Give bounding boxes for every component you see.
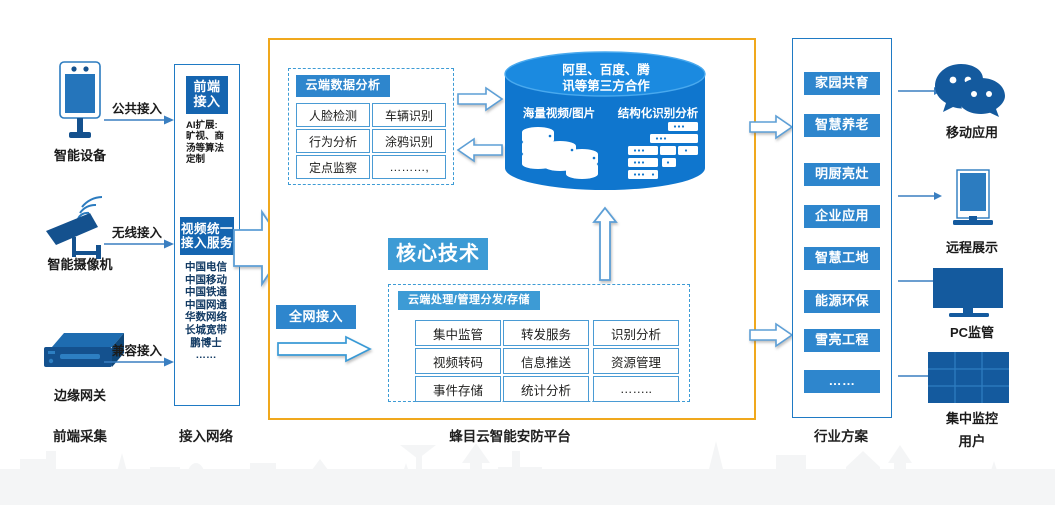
chip-frontend-access-line2: 接入 (193, 95, 220, 110)
arrow-cloud-to-analysis (456, 137, 504, 163)
arrow-analysis-to-cloud (456, 86, 504, 112)
core-tech-heading: 核心技术 (388, 238, 488, 270)
carrier-item-0: 中国电信 (176, 261, 236, 274)
core-tech-item-0[interactable]: 集中监管 (415, 320, 501, 346)
carrier-item-3: 中国网通 (176, 299, 236, 312)
cloud-analysis-title: 云端数据分析 (296, 75, 390, 97)
industry-item-4[interactable]: 智慧工地 (804, 247, 880, 270)
industry-item-7[interactable]: …… (804, 370, 880, 393)
industry-item-5[interactable]: 能源环保 (804, 290, 880, 313)
arrow-platform-to-industry-top (748, 114, 794, 140)
wechat-icon (935, 62, 1007, 116)
industry-item-2[interactable]: 明厨亮灶 (804, 163, 880, 186)
core-tech-item-5[interactable]: 资源管理 (593, 348, 679, 374)
badge-full-network-access[interactable]: 全网接入 (276, 305, 356, 329)
core-tech-item-6[interactable]: 事件存储 (415, 376, 501, 402)
cloud-title-line1: 阿里、百度、腾 (515, 62, 697, 78)
database-stack-icon (520, 124, 602, 184)
video-wall-icon (928, 352, 1012, 406)
cloud-analysis-item-4[interactable]: 定点监察 (296, 155, 370, 179)
cloud-analysis-item-1[interactable]: 车辆识别 (372, 103, 446, 127)
arrow-wireless-access (104, 238, 174, 250)
cloud-analysis-item-2[interactable]: 行为分析 (296, 129, 370, 153)
arrow-public-access (104, 114, 174, 126)
diagram-canvas: 智能设备 公共接入 智能摄像机 无线接入 边缘网关 兼 (0, 0, 1055, 505)
cloud-right-label: 结构化识别分析 (607, 105, 709, 121)
ai-extension-note: AI扩展: 旷视、商 汤等算法 定制 (186, 120, 236, 166)
industry-item-0[interactable]: 家园共育 (804, 72, 880, 95)
section-footer-frontend: 前端采集 (18, 425, 142, 445)
chip-video-access-line2: 接入服务 (181, 236, 233, 250)
core-tech-item-4[interactable]: 信息推送 (503, 348, 589, 374)
carrier-item-4: 华数网络 (176, 311, 236, 324)
carrier-item-6: 鹏博士 (176, 337, 236, 350)
carrier-list: 中国电信 中国移动 中国铁通 中国网通 华数网络 长城宽带 鹏博士 …… (176, 261, 236, 362)
arrow-core-to-cloud (592, 206, 618, 282)
user-label-3: 集中监控 (920, 408, 1024, 427)
arrow-full-network-access (276, 335, 372, 363)
industry-item-1[interactable]: 智慧养老 (804, 114, 880, 137)
industry-item-6[interactable]: 雪亮工程 (804, 329, 880, 352)
cloud-analysis-item-3[interactable]: 涂鸦识别 (372, 129, 446, 153)
cloud-left-label: 海量视频/图片 (507, 105, 611, 121)
core-tech-item-2[interactable]: 识别分析 (593, 320, 679, 346)
industry-frame (792, 38, 892, 418)
carrier-item-1: 中国移动 (176, 274, 236, 287)
cloud-cylinder-title: 阿里、百度、腾 讯等第三方合作 (515, 62, 697, 94)
chip-frontend-access[interactable]: 前端 接入 (186, 76, 228, 114)
carrier-item-7: …… (176, 349, 236, 362)
arrow-user-kiosk (898, 190, 942, 202)
section-footer-users: 用户 (920, 430, 1024, 450)
core-tech-item-1[interactable]: 转发服务 (503, 320, 589, 346)
kiosk-display-icon (951, 170, 995, 230)
section-footer-access-network: 接入网络 (152, 425, 260, 445)
core-tech-item-3[interactable]: 视频转码 (415, 348, 501, 374)
section-footer-platform: 蜂目云智能安防平台 (370, 425, 650, 445)
arrow-platform-to-industry-bottom (748, 322, 794, 348)
core-tech-subtitle: 云端处理/管理分发/存储 (398, 291, 540, 310)
monitor-icon (933, 268, 1011, 320)
chip-frontend-access-line1: 前端 (193, 80, 220, 95)
device-label-2: 边缘网关 (18, 385, 142, 404)
core-tech-item-7[interactable]: 统计分析 (503, 376, 589, 402)
server-rack-icon (620, 122, 702, 184)
carrier-item-5: 长城宽带 (176, 324, 236, 337)
user-label-0: 移动应用 (920, 122, 1024, 141)
arrow-compat-access (104, 356, 174, 368)
section-footer-industry: 行业方案 (790, 425, 892, 445)
device-label-1: 智能摄像机 (18, 254, 142, 273)
user-label-1: 远程展示 (920, 237, 1024, 256)
device-label-0: 智能设备 (18, 145, 142, 164)
industry-item-3[interactable]: 企业应用 (804, 205, 880, 228)
core-tech-item-8[interactable]: …….. (593, 376, 679, 402)
user-label-2: PC监管 (920, 322, 1024, 341)
cloud-analysis-item-5[interactable]: ………, (372, 155, 446, 179)
chip-video-access-service[interactable]: 视频统一 接入服务 (180, 217, 234, 255)
chip-video-access-line1: 视频统一 (181, 222, 233, 236)
carrier-item-2: 中国铁通 (176, 286, 236, 299)
cloud-analysis-item-0[interactable]: 人脸检测 (296, 103, 370, 127)
cloud-title-line2: 讯等第三方合作 (515, 78, 697, 94)
